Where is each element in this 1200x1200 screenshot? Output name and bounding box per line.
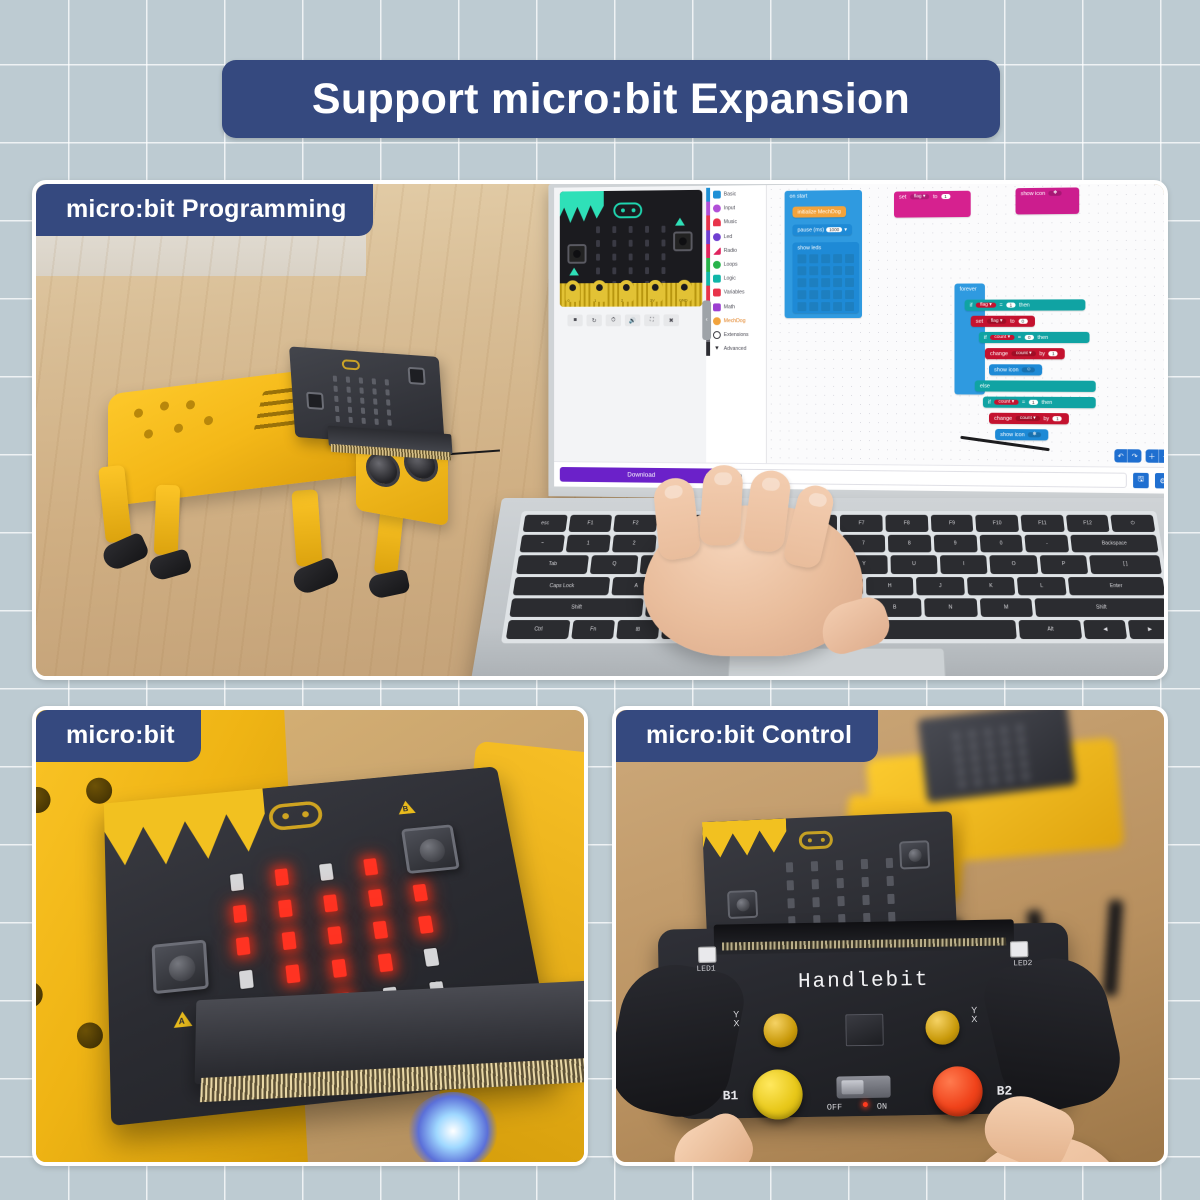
key-l[interactable]: L [1017, 577, 1066, 595]
zoom-in-icon[interactable]: ＋ [1146, 449, 1160, 462]
key-ctrl[interactable]: Ctrl [506, 620, 571, 639]
block-show-leds[interactable]: show leds [792, 242, 859, 313]
category-label: Music [724, 220, 737, 226]
variables-icon [713, 289, 721, 297]
category-label: Basic [724, 192, 736, 198]
body-holes [130, 392, 240, 448]
microbit-logo-icon [613, 202, 642, 218]
laptop-base: esc F1 F2 F3 F4 F5 F6 F7 F8 F9 F10 F11 F… [470, 498, 1168, 680]
variable-count[interactable]: count ▾ [990, 335, 1014, 340]
microbit-logo-icon [798, 830, 833, 849]
pin-label-0: 0 [567, 298, 569, 303]
canvas-tool-bar: ↶ ↷ ＋ － [1114, 449, 1168, 463]
category-label: Radio [724, 248, 737, 254]
panel-programming: 0 1 2 3V GND ■ ↻ ⏱ 🔊 [32, 180, 1168, 680]
save-icon[interactable]: 🖫 [1133, 473, 1149, 488]
loop-icon [713, 261, 721, 269]
page-title: Support micro:bit Expansion [312, 75, 910, 124]
block-if-count-zero[interactable]: if count ▾ = 0 then [979, 332, 1090, 343]
joystick-right[interactable] [925, 1010, 960, 1045]
block-label: initialize MechDog [797, 209, 840, 215]
block-else-1[interactable]: else [975, 380, 1096, 392]
axis-x-label: X [971, 1014, 977, 1024]
category-basic[interactable]: Basic [706, 187, 766, 202]
icon-picker[interactable]: ❄ [1028, 432, 1040, 437]
zigzag-decoration [702, 818, 788, 864]
category-label: Advanced [724, 346, 747, 352]
key-backspace[interactable]: Backspace [1071, 535, 1159, 553]
handlebit-controller[interactable]: LED1 LED2 Handlebit Y X Y X B1 OFF [627, 902, 1102, 1166]
button-b1[interactable] [752, 1069, 803, 1120]
debug-icon[interactable]: ✖ [663, 314, 679, 326]
key-8[interactable]: 8 [888, 535, 931, 553]
key-win[interactable]: ⊞ [616, 620, 659, 639]
keyboard-row-function: esc F1 F2 F3 F4 F5 F6 F7 F8 F9 F10 F11 F… [523, 515, 1156, 532]
button-b-label: B [402, 805, 409, 813]
block-change-count-2[interactable]: change count ▾ by 1 [989, 413, 1069, 425]
block-if-flag[interactable]: if flag ▾ = 1 then [965, 299, 1086, 310]
key-f8[interactable]: F8 [886, 515, 929, 532]
download-label: Download [627, 472, 655, 479]
category-logic[interactable]: Logic [706, 272, 766, 286]
variable-count[interactable]: count ▾ [994, 399, 1018, 404]
microbit-button-b[interactable] [899, 840, 930, 869]
led-glow [408, 1092, 498, 1166]
category-loops[interactable]: Loops [706, 258, 766, 272]
grid-icon [713, 191, 721, 199]
led-icon [713, 233, 721, 241]
key-shift-left[interactable]: Shift [509, 598, 643, 617]
key-esc[interactable]: esc [523, 515, 568, 532]
key-i[interactable]: I [940, 556, 988, 574]
switch-on-label: ON [877, 1102, 887, 1112]
block-label: show icon [1021, 190, 1046, 196]
plus-circle-icon [713, 331, 721, 339]
flag-value[interactable]: 1 [941, 194, 950, 199]
microbit-logo-icon [268, 800, 324, 831]
robot-dog-mechdog [56, 334, 496, 654]
key-m[interactable]: M [979, 598, 1033, 617]
category-label: MechDog [724, 318, 746, 324]
variable-flag[interactable]: flag ▾ [910, 194, 930, 199]
pin-pad-3v[interactable]: 3V [648, 280, 662, 302]
category-label: Logic [724, 276, 736, 282]
button-b2[interactable] [932, 1066, 983, 1117]
category-extensions[interactable]: Extensions [706, 328, 766, 342]
simulator-button-b[interactable] [673, 231, 692, 251]
category-mechdog[interactable]: MechDog [706, 314, 766, 328]
button-a[interactable] [152, 939, 209, 994]
switch-off-label: OFF [827, 1102, 842, 1112]
fullscreen-icon[interactable]: ⛶ [644, 314, 659, 326]
block-set-flag-zero[interactable]: set flag ▾ to 0 [971, 316, 1035, 327]
badge-microbit: micro:bit [36, 710, 201, 762]
key-o[interactable]: O [990, 556, 1038, 574]
laptop: 0 1 2 3V GND ■ ↻ ⏱ 🔊 [502, 180, 1168, 680]
robot-leg-3 [1103, 900, 1124, 997]
key-caps-lock[interactable]: Caps Lock [513, 577, 611, 595]
key-q[interactable]: Q [590, 556, 639, 574]
button-b1-label: B1 [723, 1088, 739, 1103]
block-label: show leds [797, 245, 821, 251]
microbit-zigzag-decoration [560, 191, 604, 227]
triangle-marker-b-icon [675, 218, 685, 226]
power-led [863, 1102, 868, 1107]
restart-icon[interactable]: ↻ [587, 315, 602, 327]
makecode-editor: 0 1 2 3V GND ■ ↻ ⏱ 🔊 [554, 180, 1168, 494]
simulator-pane: 0 1 2 3V GND ■ ↻ ⏱ 🔊 [554, 186, 706, 463]
key-f10[interactable]: F10 [976, 515, 1020, 532]
key-n[interactable]: N [924, 598, 978, 617]
show-leds-grid[interactable] [797, 254, 854, 311]
redo-icon[interactable]: ↷ [1128, 449, 1142, 462]
key-0[interactable]: 0 [979, 535, 1023, 553]
key-fn[interactable]: Fn [571, 620, 615, 639]
slow-motion-icon[interactable]: ⏱ [606, 314, 621, 326]
triangle-marker-a-icon: A [173, 1011, 192, 1028]
pin-pad-0[interactable]: 0 [566, 280, 580, 302]
microbit-button-a[interactable] [306, 392, 324, 410]
zigzag-decoration [104, 789, 270, 880]
category-input[interactable]: Input [706, 201, 766, 216]
block-change-count[interactable]: change count ▾ by 1 [985, 348, 1065, 359]
key-arrow-left[interactable]: ◀ [1084, 620, 1128, 639]
triangle-marker-b-icon: B [397, 800, 416, 815]
undo-icon[interactable]: ↶ [1114, 449, 1128, 462]
key-f2[interactable]: F2 [613, 515, 657, 532]
key-alt-right[interactable]: Alt [1019, 620, 1083, 639]
pin-label-2: 2 [621, 298, 623, 303]
key-arrow-right[interactable]: ▶ [1128, 620, 1168, 639]
block-initialize-mechdog[interactable]: initialize MechDog [792, 206, 845, 217]
simulator-button-a[interactable] [567, 244, 586, 264]
key-bracket[interactable]: [ ] [1089, 556, 1162, 574]
chevron-down-icon: ▾ [713, 345, 721, 353]
key-p[interactable]: P [1039, 556, 1088, 574]
block-if-count-one[interactable]: if count ▾ = 1 then [983, 397, 1096, 409]
led-indicator-left [698, 947, 716, 963]
zoom-group: ＋ － [1146, 449, 1168, 463]
block-pause[interactable]: pause (ms)1000▾ [792, 224, 851, 235]
pin-label-gnd: GND [679, 298, 688, 303]
leg-back-left [291, 489, 322, 567]
microbit-button-b[interactable] [408, 367, 426, 385]
variable-count[interactable]: count ▾ [1012, 351, 1036, 356]
panel-microbit: A B micro:bit [32, 706, 588, 1166]
leg-front-right [154, 485, 180, 556]
axis-x-label: X [733, 1018, 739, 1028]
blocks-canvas[interactable]: on start initialize MechDog pause (ms)10… [767, 180, 1168, 467]
block-show-icon-2[interactable]: show icon ❄ [995, 429, 1048, 441]
block-label: forever [960, 286, 977, 292]
key-shift-right[interactable]: Shift [1035, 598, 1168, 617]
undo-redo-group: ↶ ↷ [1114, 449, 1141, 463]
microbit-led-matrix [333, 376, 397, 427]
key-f11[interactable]: F11 [1021, 515, 1065, 532]
pin-pad-gnd[interactable]: GND [677, 280, 692, 302]
category-label: Variables [724, 290, 745, 296]
gear-icon [713, 317, 721, 325]
panel-control: LED1 LED2 Handlebit Y X Y X B1 OFF [612, 706, 1168, 1166]
pin-label-1: 1 [594, 298, 596, 303]
simulator-toolbar: ■ ↻ ⏱ 🔊 ⛶ ✖ [567, 314, 679, 326]
key-1[interactable]: 1 [566, 535, 611, 553]
button-b[interactable] [401, 824, 460, 874]
category-radio[interactable]: Radio [706, 243, 766, 257]
gear-icon[interactable]: ⚙ [1155, 473, 1168, 489]
logic-icon [713, 275, 721, 283]
key-f12[interactable]: F12 [1066, 515, 1110, 532]
category-label: Math [724, 304, 735, 310]
hand-typing [637, 505, 864, 656]
toolbox-collapse-button[interactable]: ‹ [702, 300, 711, 340]
key-j[interactable]: J [916, 577, 964, 595]
pin-pad-2[interactable]: 2 [619, 280, 633, 302]
category-math[interactable]: Math [706, 300, 766, 314]
badge-programming: micro:bit Programming [36, 184, 373, 236]
category-label: Input [724, 206, 735, 212]
block-label: set [899, 194, 906, 200]
laptop-screen: 0 1 2 3V GND ■ ↻ ⏱ 🔊 [554, 180, 1168, 494]
variable-count[interactable]: count ▾ [1016, 415, 1040, 420]
mute-icon[interactable]: 🔊 [625, 314, 640, 326]
microbit-edge-socket [714, 919, 1014, 954]
category-music[interactable]: Music [706, 215, 766, 230]
pin-pad-1[interactable]: 1 [592, 280, 606, 302]
key-2[interactable]: 2 [612, 535, 657, 553]
block-set-flag[interactable]: set flag ▾ to 1 [894, 191, 971, 218]
key-u[interactable]: U [890, 556, 937, 574]
key-f9[interactable]: F9 [931, 515, 974, 532]
category-variables[interactable]: Variables [706, 286, 766, 300]
simulator-led-matrix [596, 226, 671, 288]
joystick-axis-right: Y X [971, 1006, 977, 1024]
block-show-icon-top[interactable]: show icon ❖ [1016, 187, 1080, 214]
power-switch[interactable] [836, 1076, 890, 1099]
key-enter[interactable]: Enter [1068, 577, 1166, 595]
download-button[interactable]: Download ••• [560, 467, 724, 483]
microbit-logo-icon [342, 359, 361, 370]
block-label-to: to [933, 194, 938, 200]
category-advanced[interactable]: ▾ Advanced [706, 342, 766, 356]
key-tab[interactable]: Tab [516, 556, 589, 574]
category-led[interactable]: Led [706, 229, 766, 244]
key-9[interactable]: 9 [933, 535, 977, 553]
category-label: Led [724, 234, 732, 240]
mcu-chip [845, 1014, 884, 1047]
joystick-left[interactable] [763, 1013, 798, 1048]
key-h[interactable]: H [866, 577, 914, 595]
badge-control: micro:bit Control [616, 710, 878, 762]
key-minus[interactable]: - [1025, 535, 1070, 553]
math-icon [713, 303, 721, 311]
toolbox-category-list: Basic Input Music [706, 185, 767, 463]
icon-picker[interactable]: ❖ [1049, 190, 1062, 195]
block-label: pause (ms) [797, 227, 824, 233]
zoom-out-icon[interactable]: － [1159, 450, 1168, 463]
microbit-button-a[interactable] [727, 890, 758, 919]
variable-flag[interactable]: flag ▾ [987, 318, 1007, 323]
key-k[interactable]: K [967, 577, 1016, 595]
block-label: on start [790, 193, 808, 199]
key-f1[interactable]: F1 [568, 515, 612, 532]
signal-icon [713, 247, 721, 255]
block-show-icon-1[interactable]: show icon ☺ [989, 364, 1043, 375]
key-f7[interactable]: F7 [840, 515, 882, 532]
circle-icon [713, 205, 721, 213]
pause-value[interactable]: 1000 [826, 227, 842, 232]
key-power[interactable]: ⏻ [1111, 515, 1156, 532]
variable-flag[interactable]: flag ▾ [976, 302, 996, 307]
page-title-banner: Support micro:bit Expansion [222, 60, 1000, 138]
microbit-simulator[interactable]: 0 1 2 3V GND [560, 190, 702, 307]
category-label: Loops [724, 262, 738, 268]
led-indicator-right [1010, 941, 1028, 957]
category-label: Extensions [724, 332, 749, 338]
laptop-lid: 0 1 2 3V GND ■ ↻ ⏱ 🔊 [548, 180, 1168, 504]
key-tilde[interactable]: ~ [519, 535, 564, 553]
led-matrix [953, 724, 1034, 788]
triangle-marker-a-icon [569, 268, 579, 276]
button-a-label: A [178, 1016, 184, 1026]
page-root: Support micro:bit Expansion [0, 0, 1200, 1200]
finger-middle [699, 465, 744, 545]
icon-picker[interactable]: ☺ [1022, 367, 1035, 372]
headphones-icon [713, 219, 721, 227]
controller-board: LED1 LED2 Handlebit Y X Y X B1 OFF [658, 922, 1071, 1119]
pin-label-3v: 3V [650, 298, 655, 303]
joystick-axis-left: Y X [733, 1010, 739, 1028]
stop-icon[interactable]: ■ [567, 315, 582, 327]
